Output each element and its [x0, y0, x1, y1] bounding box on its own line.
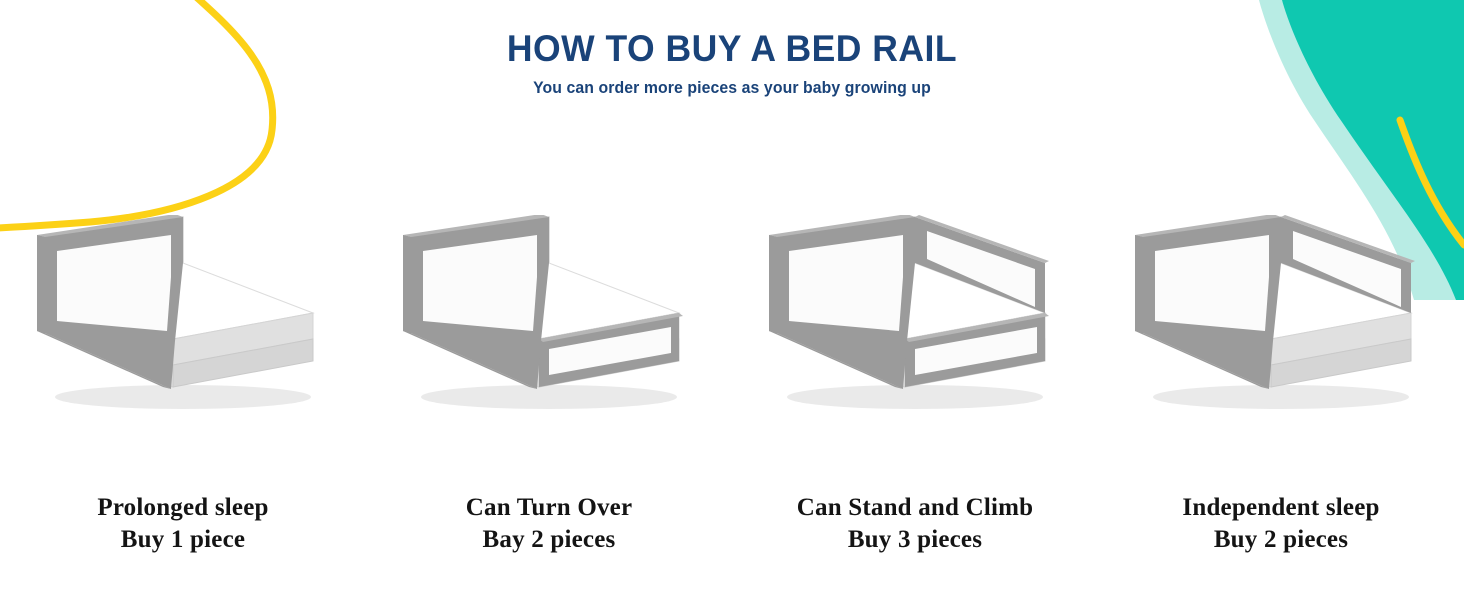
caption-title: Prolonged sleep: [0, 492, 366, 524]
page-subtitle: You can order more pieces as your baby g…: [51, 78, 1413, 98]
infographic-canvas: HOW TO BUY A BED RAIL You can order more…: [0, 0, 1464, 600]
caption-4: Independent sleep Buy 2 pieces: [1098, 492, 1464, 556]
bed-illustration-1: [0, 215, 366, 435]
bed-illustration-row: [0, 215, 1464, 435]
bed-rail-left: [403, 215, 549, 389]
bed-illustration-3: [732, 215, 1098, 435]
caption-2: Can Turn Over Bay 2 pieces: [366, 492, 732, 556]
bed-illustration-4: [1098, 215, 1464, 435]
bed-rail-left: [769, 215, 915, 389]
caption-title: Can Turn Over: [366, 492, 732, 524]
header: HOW TO BUY A BED RAIL You can order more…: [0, 30, 1464, 98]
caption-1: Prolonged sleep Buy 1 piece: [0, 492, 366, 556]
bed-illustration-2: [366, 215, 732, 435]
caption-subtitle: Bay 2 pieces: [366, 524, 732, 556]
caption-subtitle: Buy 3 pieces: [732, 524, 1098, 556]
caption-subtitle: Buy 2 pieces: [1098, 524, 1464, 556]
bed-rail-left: [37, 215, 183, 389]
bed-shadow: [55, 385, 311, 409]
bed-shadow: [421, 385, 677, 409]
caption-row: Prolonged sleep Buy 1 piece Can Turn Ove…: [0, 492, 1464, 556]
caption-title: Can Stand and Climb: [732, 492, 1098, 524]
caption-title: Independent sleep: [1098, 492, 1464, 524]
caption-subtitle: Buy 1 piece: [0, 524, 366, 556]
page-title: HOW TO BUY A BED RAIL: [29, 30, 1434, 69]
bed-rail-left: [1135, 215, 1281, 389]
bed-shadow: [1153, 385, 1409, 409]
bed-shadow: [787, 385, 1043, 409]
caption-3: Can Stand and Climb Buy 3 pieces: [732, 492, 1098, 556]
